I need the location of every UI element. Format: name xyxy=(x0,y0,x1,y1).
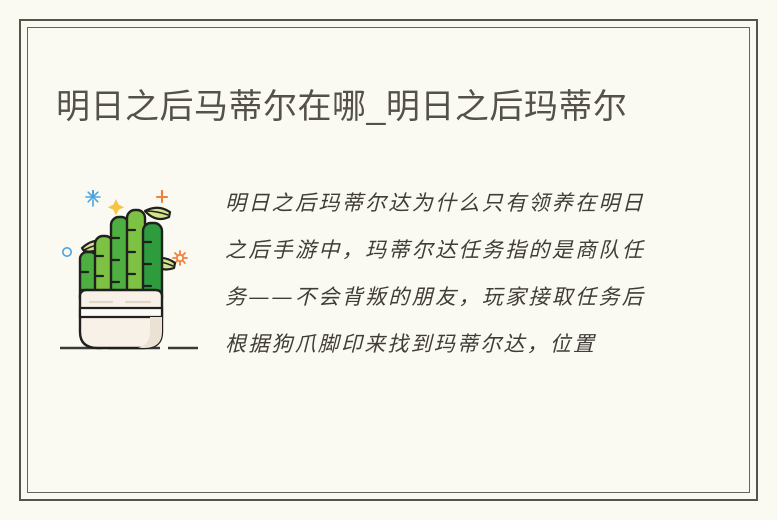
sparkle-orange-plus-visible-icon xyxy=(157,192,167,202)
article-paragraph: 明日之后玛蒂尔达为什么只有领养在明日之后手游中，玛蒂尔达任务指的是商队任务——不… xyxy=(225,180,645,368)
sparkle-blue-circle-icon xyxy=(63,248,71,256)
flower-pot-icon xyxy=(80,290,162,348)
page-content: 明日之后马蒂尔在哪_明日之后玛蒂尔 xyxy=(28,28,749,492)
article-body-area: 明日之后玛蒂尔达为什么只有领养在明日之后手游中，玛蒂尔达任务指的是商队任务——不… xyxy=(28,180,749,492)
article-page: 明日之后马蒂尔在哪_明日之后玛蒂尔 xyxy=(0,0,777,520)
sparkle-yellow-star-icon xyxy=(108,199,124,215)
illustration-potted-bamboo xyxy=(50,190,220,370)
leaf-icon-right-top xyxy=(145,208,170,219)
page-title: 明日之后马蒂尔在哪_明日之后玛蒂尔 xyxy=(56,83,656,132)
